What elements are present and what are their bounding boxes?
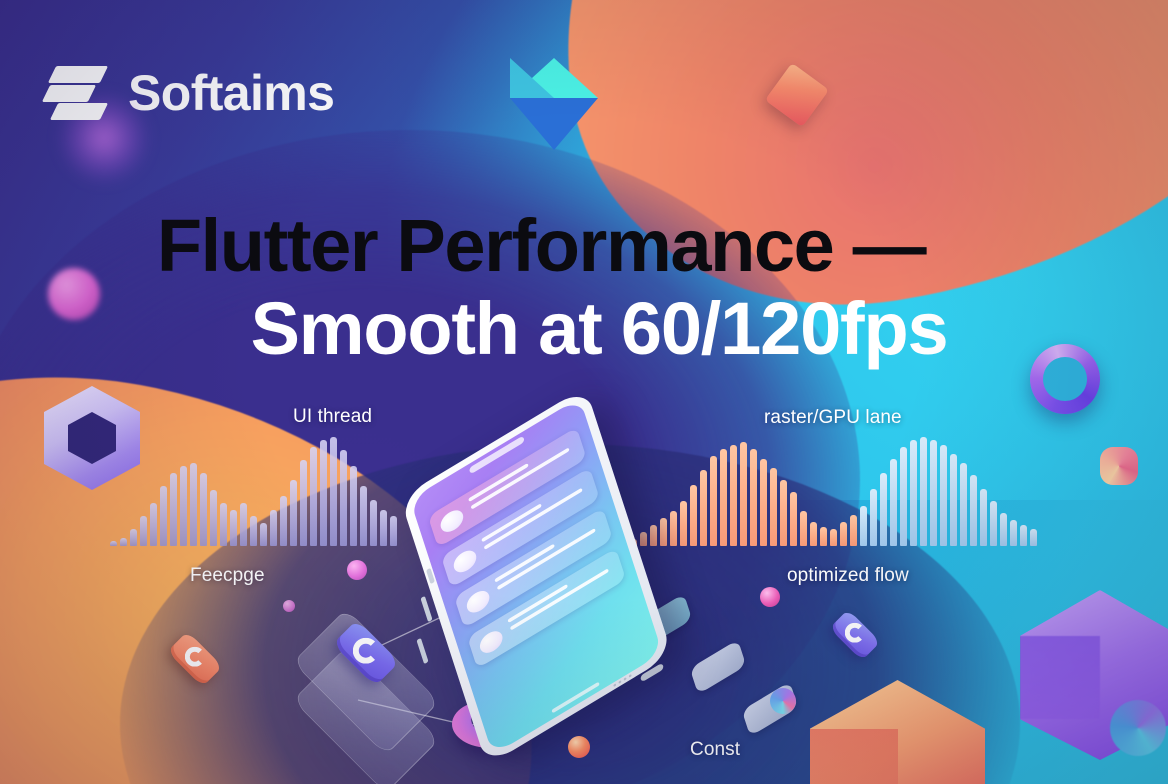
hero-banner: Softaims Flutter Performance — Smooth at… xyxy=(0,0,1168,784)
vignette-overlay xyxy=(0,0,1168,784)
